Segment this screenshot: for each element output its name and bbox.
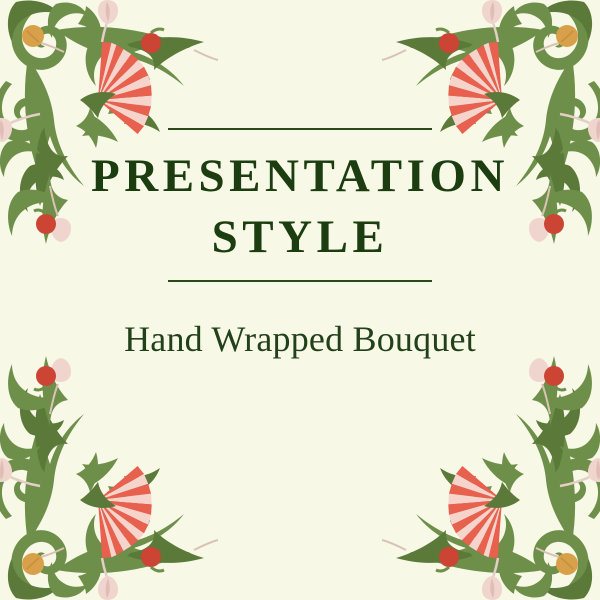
page-title: PRESENTATION STYLE bbox=[0, 146, 600, 268]
ornament-foliage-group bbox=[0, 356, 218, 600]
ornament-flower bbox=[425, 33, 529, 137]
ornament-berry-group bbox=[22, 366, 164, 575]
ornament-bud-group bbox=[482, 358, 600, 600]
ornament-berry-group bbox=[436, 366, 578, 575]
page-subtitle: Hand Wrapped Bouquet bbox=[0, 318, 600, 360]
presentation-style-card: PRESENTATION STYLE Hand Wrapped Bouquet bbox=[0, 0, 600, 600]
top-divider-rule bbox=[168, 128, 432, 130]
ornament-flower bbox=[71, 463, 175, 567]
ornament-bud-group bbox=[0, 358, 118, 600]
bottom-divider-rule bbox=[168, 280, 432, 282]
floral-corner-ornament-bottom-left bbox=[0, 342, 256, 600]
card-text-block: PRESENTATION STYLE Hand Wrapped Bouquet bbox=[0, 128, 600, 361]
ornament-flower bbox=[425, 463, 529, 567]
ornament-flower bbox=[71, 33, 175, 137]
floral-corner-ornament-bottom-right bbox=[344, 342, 600, 600]
ornament-foliage-group bbox=[382, 356, 600, 600]
